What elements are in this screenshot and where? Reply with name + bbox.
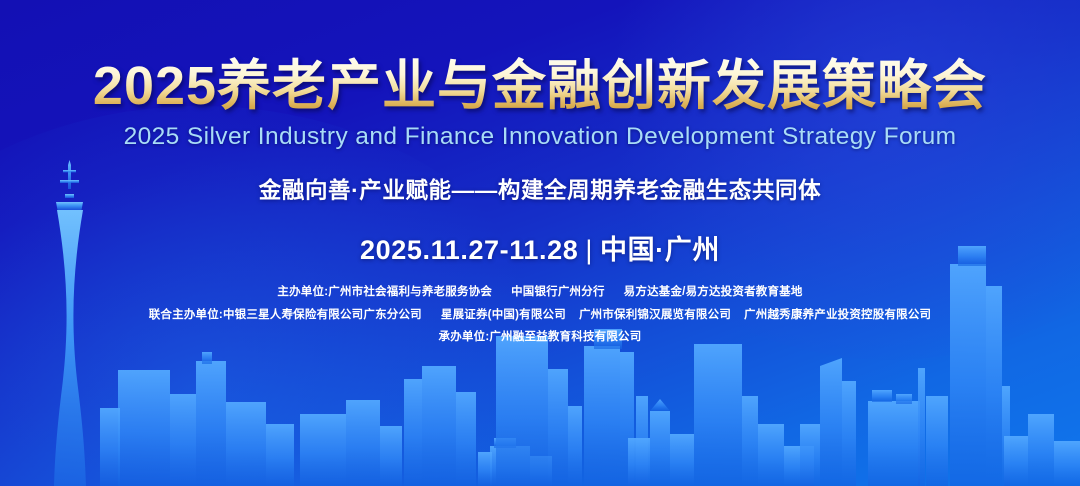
co-host-name: 中银三星人寿保险有限公司广东分公司	[223, 309, 422, 321]
conference-banner: 2025养老产业与金融创新发展策略会 2025 Silver Industry …	[0, 0, 1080, 486]
organizers-block: 主办单位:广州市社会福利与养老服务协会中国银行广州分行易方达基金/易方达投资者教…	[0, 287, 1080, 344]
page-title: 2025养老产业与金融创新发展策略会	[0, 57, 1080, 115]
event-datetime-location: 2025.11.27-11.28|中国·广州	[0, 228, 1080, 267]
co-host-name: 广州越秀康养产业投资控股有限公司	[744, 309, 931, 321]
co-host-label: 联合主办单位:	[149, 309, 223, 321]
organizer-label: 承办单位:	[439, 331, 490, 343]
host-label: 主办单位:	[277, 286, 328, 298]
slogan: 金融向善·产业赋能——构建全周期养老金融生态共同体	[0, 173, 1080, 205]
banner-content: 2025养老产业与金融创新发展策略会 2025 Silver Industry …	[0, 0, 1080, 355]
host-name: 中国银行广州分行	[511, 286, 605, 298]
organizer-line: 承办单位:广州融至益教育科技有限公司	[0, 332, 1080, 344]
host-name: 易方达基金/易方达投资者教育基地	[624, 286, 803, 298]
skyline-buildings-left	[100, 352, 294, 486]
host-line: 主办单位:广州市社会福利与养老服务协会中国银行广州分行易方达基金/易方达投资者教…	[0, 287, 1080, 299]
english-title: 2025 Silver Industry and Finance Innovat…	[0, 123, 1080, 151]
co-host-name: 星展证券(中国)有限公司	[441, 309, 566, 321]
co-host-line: 联合主办单位:中银三星人寿保险有限公司广东分公司星展证券(中国)有限公司广州市保…	[0, 310, 1080, 322]
organizer-name: 广州融至益教育科技有限公司	[489, 331, 641, 343]
skyline-buildings-center-left	[300, 366, 476, 486]
skyline-buildings-center-right	[628, 344, 784, 486]
event-location: 中国·广州	[600, 235, 720, 265]
host-name: 广州市社会福利与养老服务协会	[328, 286, 492, 298]
co-host-name: 广州市保利锦汉展览有限公司	[579, 309, 731, 321]
event-date: 2025.11.27-11.28	[360, 235, 578, 265]
datetime-separator: |	[578, 235, 600, 265]
